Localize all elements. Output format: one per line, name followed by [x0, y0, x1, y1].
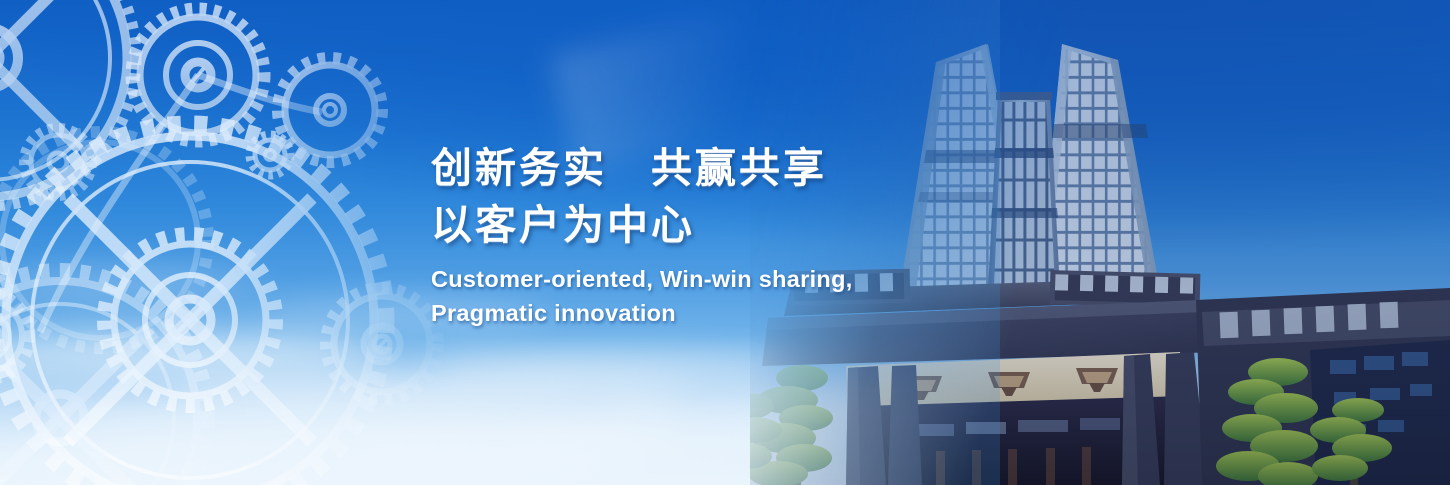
- gears-overlay: [0, 0, 490, 485]
- slogan-en-block: Customer-oriented, Win-win sharing, Prag…: [431, 262, 951, 330]
- hero-banner: 创新务实 共赢共享 以客户为中心 Customer-oriented, Win-…: [0, 0, 1450, 485]
- slogan-cn-line-2: 以客户为中心: [431, 197, 951, 254]
- slogan-en-line-1: Customer-oriented, Win-win sharing,: [431, 262, 951, 296]
- slogan-cn-line-1: 创新务实 共赢共享: [431, 140, 951, 197]
- slogan-block: 创新务实 共赢共享 以客户为中心 Customer-oriented, Win-…: [431, 140, 951, 330]
- slogan-en-line-2: Pragmatic innovation: [431, 296, 951, 330]
